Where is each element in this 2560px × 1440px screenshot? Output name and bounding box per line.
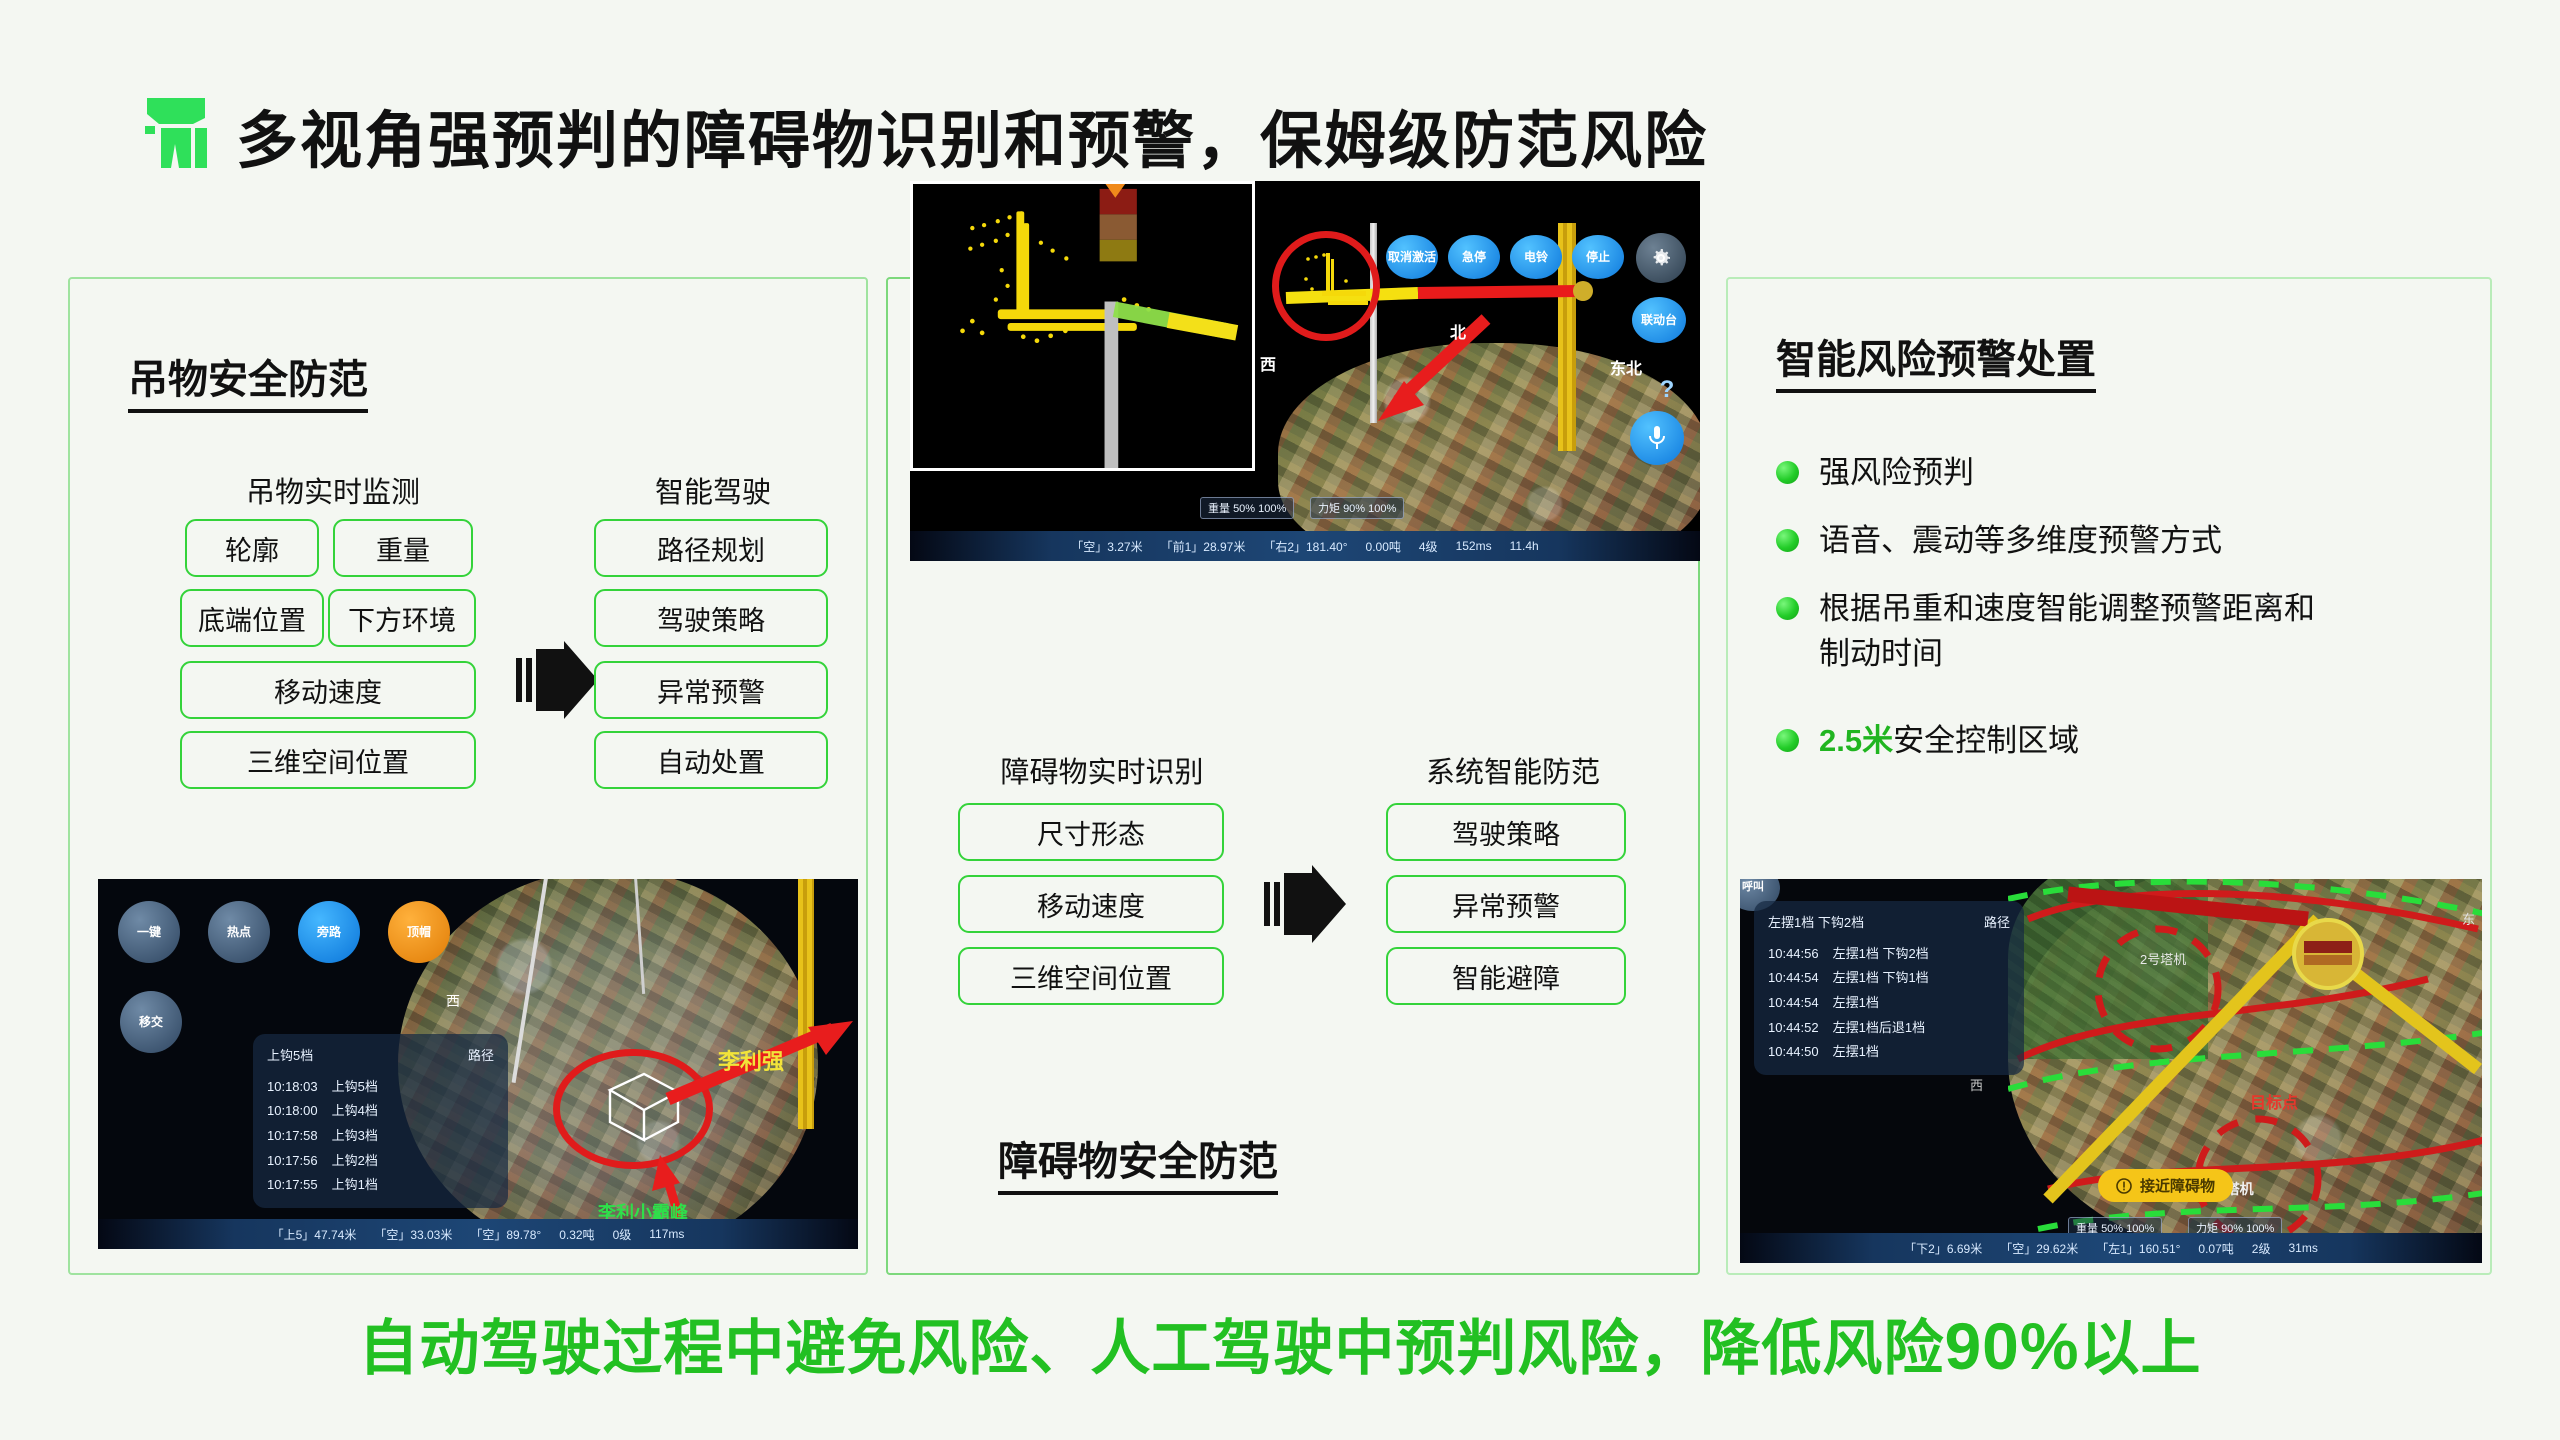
- btn-top-cap[interactable]: 顶帽: [388, 901, 450, 963]
- status-uptime: 11.4h: [1510, 539, 1539, 553]
- btn-bypass[interactable]: 旁路: [298, 901, 360, 963]
- alert-badge-label: 接近障碍物: [2140, 1175, 2215, 1196]
- log-time: 10:44:54: [1768, 991, 1819, 1016]
- t-logo-icon: [143, 96, 209, 168]
- bullet-label: 强风险预判: [1819, 451, 1974, 496]
- chip-below-environment[interactable]: 下方环境: [328, 589, 476, 647]
- log-time: 10:44:52: [1768, 1016, 1819, 1041]
- panel-risk-warning: 智能风险预警处置 强风险预判 语音、震动等多维度预警方式 根据吊重和速度智能调整…: [1726, 277, 2492, 1275]
- status-latency: 152ms: [1456, 539, 1492, 553]
- log-event: 左摆1档 下钩1档: [1833, 966, 1929, 991]
- overlay-label-yellow: 李利强: [718, 1044, 784, 1076]
- status-hoist: 「上5」47.74米: [272, 1226, 357, 1243]
- status-slew: 「空」89.78°: [470, 1226, 541, 1243]
- compass-west-label: 西: [1260, 351, 1276, 375]
- bullet-label: 2.5米安全控制区域: [1819, 719, 2079, 764]
- bullet-dot-icon: [1776, 729, 1799, 752]
- log-time: 10:17:58: [267, 1124, 318, 1149]
- metric-value: 90%: [1343, 503, 1365, 515]
- status-slew: 「右2」181.40°: [1263, 538, 1347, 555]
- btn-cancel-activate[interactable]: 取消激活: [1386, 235, 1438, 279]
- log-header-left: 上钩5档: [267, 1044, 313, 1069]
- left-panel-title: 吊物安全防范: [128, 347, 368, 413]
- chip-weight[interactable]: 重量: [333, 519, 473, 577]
- right-arrow-icon: [1264, 865, 1346, 948]
- compass-west-label: 西: [446, 991, 460, 1011]
- status-latency: 117ms: [649, 1227, 684, 1241]
- mid-panel-title: 障碍物安全防范: [998, 1129, 1278, 1195]
- column-heading-smart-driving: 智能驾驶: [598, 469, 828, 511]
- status-trolley: 「前1」28.97米: [1161, 538, 1246, 555]
- operation-log-panel: 上钩5档 路径 10:18:03 上钩5档 10:18:00 上钩4档 10:1…: [253, 1034, 508, 1208]
- log-event: 上钩4档: [332, 1099, 378, 1124]
- log-event: 左摆1档 下钩2档: [1833, 942, 1929, 967]
- right-arrow-icon: [516, 641, 598, 724]
- log-time: 10:17:55: [267, 1173, 318, 1198]
- column-heading-obstacle-detect: 障碍物实时识别: [952, 749, 1252, 791]
- chip-move-speed[interactable]: 移动速度: [958, 875, 1224, 933]
- metric-label: 重量: [1208, 503, 1230, 515]
- log-row: 10:44:56 左摆1档 下钩2档: [1768, 942, 2010, 967]
- compass-north-label: 北: [1450, 319, 1466, 343]
- panel-obstacle-safety: 取消激活 急停 电铃 停止 联动台 ? 北 东北 西: [886, 277, 1700, 1275]
- bullet-highlight: 2.5米: [1819, 723, 1893, 758]
- log-time: 10:44:56: [1768, 942, 1819, 967]
- log-row: 10:44:54 左摆1档: [1768, 991, 2010, 1016]
- status-trolley: 「空」29.62米: [2000, 1240, 2078, 1257]
- map-label-target: 目标点: [2250, 1089, 2298, 1113]
- footer-text-a: 自动驾驶过程中避免风险、人工驾驶中预判风险，降低风险: [358, 1315, 1944, 1382]
- btn-hotspot[interactable]: 热点: [208, 901, 270, 963]
- btn-stop[interactable]: 停止: [1572, 235, 1624, 279]
- metric-max: 100%: [1368, 503, 1396, 515]
- warning-icon: [2116, 1178, 2132, 1194]
- status-bar: 「下2」6.69米 「空」29.62米 「左1」160.51° 0.07吨 2级…: [1740, 1233, 2482, 1263]
- status-trolley: 「空」33.03米: [374, 1226, 452, 1243]
- status-latency: 31ms: [2288, 1241, 2317, 1255]
- panel-hoist-safety: 吊物安全防范 吊物实时监测 轮廓 重量 底端位置 下方环境 移动速度 三维空间位…: [68, 277, 868, 1275]
- btn-one-key[interactable]: 一键: [118, 901, 180, 963]
- column-heading-hoist-monitor: 吊物实时监测: [188, 469, 478, 511]
- status-load: 0.32吨: [559, 1226, 594, 1243]
- log-event: 上钩5档: [332, 1075, 378, 1100]
- log-row: 10:18:00 上钩4档: [267, 1099, 494, 1124]
- btn-emergency-stop[interactable]: 急停: [1448, 235, 1500, 279]
- log-event: 上钩1档: [332, 1173, 378, 1198]
- log-time: 10:44:50: [1768, 1040, 1819, 1065]
- log-time: 10:18:03: [267, 1075, 318, 1100]
- lidar-obstacle-detection-screenshot[interactable]: 取消激活 急停 电铃 停止 联动台 ? 北 东北 西: [910, 181, 1700, 561]
- compass-northeast-label: 东北: [1610, 355, 1642, 379]
- chip-outline[interactable]: 轮廓: [185, 519, 319, 577]
- bullet-item: 2.5米安全控制区域: [1776, 719, 2456, 764]
- log-event: 左摆1档: [1833, 1040, 1879, 1065]
- bullet-label: 根据吊重和速度智能调整预警距离和 制动时间: [1819, 587, 2315, 677]
- btn-handover[interactable]: 移交: [120, 991, 182, 1053]
- chip-anomaly-warning[interactable]: 异常预警: [594, 661, 828, 719]
- chip-3d-position[interactable]: 三维空间位置: [180, 731, 476, 789]
- help-icon[interactable]: ?: [1650, 373, 1684, 407]
- operation-log-panel: 左摆1档 下钩2档 路径 10:44:56 左摆1档 下钩2档 10:44:54…: [1754, 901, 2024, 1075]
- metric-label: 力矩: [1318, 503, 1340, 515]
- log-row: 10:18:03 上钩5档: [267, 1075, 494, 1100]
- bullet-item: 语音、震动等多维度预警方式: [1776, 519, 2456, 564]
- log-header-left: 左摆1档 下钩2档: [1768, 911, 1864, 936]
- log-row: 10:44:50 左摆1档: [1768, 1040, 2010, 1065]
- metric-moment: 力矩 90% 100%: [1310, 497, 1404, 519]
- metric-weight: 重量 50% 100%: [1200, 497, 1294, 519]
- log-time: 10:17:56: [267, 1149, 318, 1174]
- chip-driving-strategy[interactable]: 驾驶策略: [594, 589, 828, 647]
- status-wind: 4级: [1419, 538, 1438, 555]
- metric-max: 100%: [1258, 503, 1286, 515]
- obstacle-proximity-warning-screenshot[interactable]: 2号塔机 目标点 3#塔机 西 东 呼叫 左摆1档 下钩2档 路径 10:44:…: [1740, 879, 2482, 1263]
- chip-anomaly-warning[interactable]: 异常预警: [1386, 875, 1626, 933]
- log-event: 左摆1档后退1档: [1833, 1016, 1925, 1041]
- log-event: 上钩2档: [332, 1149, 378, 1174]
- map-label-tower-2: 2号塔机: [2140, 949, 2186, 968]
- log-row: 10:44:54 左摆1档 下钩1档: [1768, 966, 2010, 991]
- footer-text-c: 以上: [2080, 1315, 2202, 1382]
- chip-3d-position[interactable]: 三维空间位置: [958, 947, 1224, 1005]
- bullet-dot-icon: [1776, 461, 1799, 484]
- status-bar: 「空」3.27米 「前1」28.97米 「右2」181.40° 0.00吨 4级…: [910, 531, 1700, 561]
- log-event: 上钩3档: [332, 1124, 378, 1149]
- log-time: 10:18:00: [267, 1099, 318, 1124]
- btn-bell[interactable]: 电铃: [1510, 235, 1562, 279]
- chip-bottom-position[interactable]: 底端位置: [180, 589, 324, 647]
- status-load: 0.07吨: [2198, 1240, 2233, 1257]
- log-header-right: 路径: [468, 1044, 494, 1069]
- chip-path-planning[interactable]: 路径规划: [594, 519, 828, 577]
- compass-east-label: 东: [2462, 909, 2475, 928]
- chip-driving-strategy[interactable]: 驾驶策略: [1386, 803, 1626, 861]
- crane-cockpit-hoist-screenshot[interactable]: 李利强 李利小霸峰 一键 热点 旁路 顶帽 移交 西 上钩5档 路径 10:18…: [98, 879, 858, 1249]
- status-badge-approaching-obstacle: 接近障碍物: [2098, 1169, 2233, 1202]
- bullet-dot-icon: [1776, 597, 1799, 620]
- bullet-rest: 安全控制区域: [1893, 723, 2079, 758]
- bullet-item: 强风险预判: [1776, 451, 2456, 496]
- status-bar: 「上5」47.74米 「空」33.03米 「空」89.78° 0.32吨 0级 …: [98, 1219, 858, 1249]
- bullet-label: 语音、震动等多维度预警方式: [1819, 519, 2222, 564]
- log-row: 10:17:58 上钩3档: [267, 1124, 494, 1149]
- status-hoist: 「空」3.27米: [1071, 538, 1142, 555]
- footer-percent: 90%: [1944, 1309, 2079, 1383]
- chip-smart-avoidance[interactable]: 智能避障: [1386, 947, 1626, 1005]
- column-heading-system-prevent: 系统智能防范: [1388, 749, 1638, 791]
- chip-move-speed[interactable]: 移动速度: [180, 661, 476, 719]
- page-title: 多视角强预判的障碍物识别和预警，保姆级防范风险: [236, 90, 1708, 180]
- status-load: 0.00吨: [1366, 538, 1401, 555]
- right-panel-title: 智能风险预警处置: [1776, 327, 2096, 393]
- log-time: 10:44:54: [1768, 966, 1819, 991]
- status-wind: 0级: [613, 1226, 632, 1243]
- log-row: 10:44:52 左摆1档后退1档: [1768, 1016, 2010, 1041]
- chip-auto-handling[interactable]: 自动处置: [594, 731, 828, 789]
- bullet-dot-icon: [1776, 529, 1799, 552]
- log-row: 10:17:55 上钩1档: [267, 1173, 494, 1198]
- status-hoist: 「下2」6.69米: [1904, 1240, 1982, 1257]
- log-header-right: 路径: [1984, 911, 2010, 936]
- status-slew: 「左1」160.51°: [2096, 1240, 2180, 1257]
- microphone-icon[interactable]: [1630, 411, 1684, 465]
- btn-linkage-console[interactable]: 联动台: [1632, 297, 1686, 343]
- status-wind: 2级: [2252, 1240, 2271, 1257]
- bullet-item: 根据吊重和速度智能调整预警距离和 制动时间: [1776, 587, 2466, 677]
- log-row: 10:17:56 上钩2档: [267, 1149, 494, 1174]
- compass-west-label: 西: [1970, 1075, 1983, 1094]
- gear-icon[interactable]: [1636, 233, 1686, 283]
- metric-value: 50%: [1233, 503, 1255, 515]
- log-event: 左摆1档: [1833, 991, 1879, 1016]
- footer-tagline: 自动驾驶过程中避免风险、人工驾驶中预判风险，降低风险90%以上: [0, 1300, 2560, 1387]
- chip-size-shape[interactable]: 尺寸形态: [958, 803, 1224, 861]
